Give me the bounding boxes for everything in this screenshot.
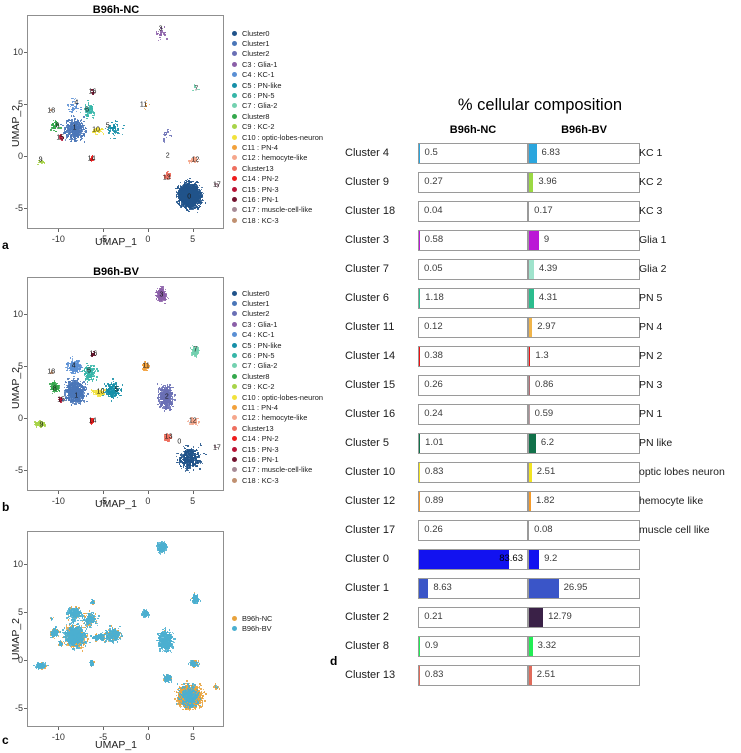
legend-label: C11 : PN-4 xyxy=(242,403,278,412)
cluster-number-label: 16 xyxy=(89,351,97,358)
legend-color-swatch xyxy=(232,135,237,140)
legend-label: C12 : hemocyte-like xyxy=(242,413,307,422)
cluster-number-label: 9 xyxy=(39,422,43,429)
row-annotation-label: PN 1 xyxy=(639,408,662,420)
cluster-number-label: 4 xyxy=(74,99,78,106)
table-row: Cluster 61.184.31PN 5 xyxy=(345,288,741,311)
legend-label: C18 : KC-3 xyxy=(242,216,279,225)
legend-color-swatch xyxy=(232,405,237,410)
panel-a-legend: Cluster0Cluster1Cluster2C3 : Glia-1C4 : … xyxy=(232,28,323,225)
legend-label: C17 : muscle-cell-like xyxy=(242,205,312,214)
row-cluster-label: Cluster 14 xyxy=(345,350,413,362)
row-annotation-label: Glia 1 xyxy=(639,234,666,246)
row-annotation-label: PN 3 xyxy=(639,379,662,391)
cell-bv: 0.59 xyxy=(528,404,640,425)
legend-color-swatch xyxy=(232,124,237,129)
x-tick-mark xyxy=(58,491,59,494)
x-tick-mark xyxy=(148,727,149,730)
bar-fill xyxy=(529,666,532,685)
cluster-number-label: 3 xyxy=(159,25,163,32)
bar-fill xyxy=(529,289,534,308)
legend-label: C11 : PN-4 xyxy=(242,143,278,152)
cluster-number-label: 1 xyxy=(74,392,78,399)
y-tick-label: 10 xyxy=(1,309,23,319)
cell-bv: 26.95 xyxy=(528,578,640,599)
panel-a-xlabel: UMAP_1 xyxy=(0,236,232,248)
x-tick-label: -10 xyxy=(52,732,65,742)
cluster-number-label: 12 xyxy=(192,157,200,164)
legend-color-swatch xyxy=(232,197,237,202)
panel-letter-b: b xyxy=(2,500,9,514)
legend-color-swatch xyxy=(232,176,237,181)
bar-value-label: 8.63 xyxy=(433,582,452,593)
row-cluster-label: Cluster 10 xyxy=(345,466,413,478)
panel-letter-c: c xyxy=(2,733,9,747)
cell-nc: 1.18 xyxy=(418,288,528,309)
legend-color-swatch xyxy=(232,467,237,472)
panel-a-umap-nc: B96h-NC UMAP_2 UMAP_1 371646111881105159… xyxy=(0,0,232,250)
cluster-number-label: 17 xyxy=(213,445,221,452)
bar-value-label: 1.3 xyxy=(535,350,548,361)
legend-item: Cluster13 xyxy=(232,163,323,173)
legend-item: C12 : hemocyte-like xyxy=(232,153,323,163)
cell-bv: 12.79 xyxy=(528,607,640,628)
legend-color-swatch xyxy=(232,395,237,400)
bar-value-label: 0.04 xyxy=(424,205,443,216)
cell-bv: 2.51 xyxy=(528,462,640,483)
cell-bv: 9 xyxy=(528,230,640,251)
table-row: Cluster 40.56.83KC 1 xyxy=(345,143,741,166)
x-tick-mark xyxy=(103,491,104,494)
y-tick-label: -5 xyxy=(1,203,23,213)
cell-nc: 0.26 xyxy=(418,520,528,541)
bar-value-label: 0.83 xyxy=(425,466,444,477)
bar-value-label: 3.96 xyxy=(538,176,557,187)
y-tick-label: 5 xyxy=(1,607,23,617)
legend-label: C15 : PN-3 xyxy=(242,445,279,454)
panel-b-umap-bv: B96h-BV UMAP_2 UMAP_1 371646111881105215… xyxy=(0,262,232,512)
row-cluster-label: Cluster 8 xyxy=(345,640,413,652)
bar-value-label: 0.26 xyxy=(424,379,443,390)
legend-color-swatch xyxy=(232,291,237,296)
bar-value-label: 0.9 xyxy=(425,640,438,651)
legend-color-swatch xyxy=(232,145,237,150)
row-cluster-label: Cluster 5 xyxy=(345,437,413,449)
legend-item: C7 : Glia-2 xyxy=(232,361,323,371)
x-tick-mark xyxy=(103,727,104,730)
legend-label: Cluster0 xyxy=(242,29,270,38)
row-cluster-label: Cluster 0 xyxy=(345,553,413,565)
cluster-number-label: 9 xyxy=(39,157,43,164)
cell-bv: 6.83 xyxy=(528,143,640,164)
panel-letter-d: d xyxy=(330,654,337,668)
panel-c-umap-merged: UMAP_2 UMAP_1 -10-5051050-5 xyxy=(0,523,232,753)
cell-nc: 0.05 xyxy=(418,259,528,280)
y-tick-label: 5 xyxy=(1,361,23,371)
bar-fill xyxy=(529,463,532,482)
legend-label: C7 : Glia-2 xyxy=(242,361,277,370)
cell-nc: 0.27 xyxy=(418,172,528,193)
legend-color-swatch xyxy=(232,374,237,379)
table-row: Cluster 140.381.3PN 2 xyxy=(345,346,741,369)
legend-label: C5 : PN-like xyxy=(242,81,281,90)
legend-color-swatch xyxy=(232,363,237,368)
panel-letter-a: a xyxy=(2,238,9,252)
bar-fill xyxy=(529,173,533,192)
x-tick-label: 0 xyxy=(145,732,150,742)
legend-item: C5 : PN-like xyxy=(232,340,323,350)
row-annotation-label: muscle cell like xyxy=(639,524,710,536)
legend-item: C16 : PN-1 xyxy=(232,194,323,204)
bar-value-label: 0.21 xyxy=(424,611,443,622)
bar-value-label: 0.83 xyxy=(425,669,444,680)
legend-label: Cluster2 xyxy=(242,49,270,58)
bar-fill xyxy=(419,434,420,453)
y-tick-mark xyxy=(24,470,27,471)
bar-fill xyxy=(419,666,420,685)
cluster-number-label: 15 xyxy=(56,135,64,142)
y-tick-label: 0 xyxy=(1,655,23,665)
cluster-number-label: 18 xyxy=(47,107,55,114)
bar-value-label: 2.97 xyxy=(537,321,556,332)
legend-color-swatch xyxy=(232,93,237,98)
cell-bv: 6.2 xyxy=(528,433,640,454)
legend-label: C15 : PN-3 xyxy=(242,185,279,194)
cell-nc: 0.9 xyxy=(418,636,528,657)
bar-value-label: 0.89 xyxy=(425,495,444,506)
bar-fill xyxy=(419,579,428,598)
row-cluster-label: Cluster 1 xyxy=(345,582,413,594)
legend-color-swatch xyxy=(232,207,237,212)
legend-label: C5 : PN-like xyxy=(242,341,281,350)
table-row: Cluster 083.639.2 xyxy=(345,549,741,572)
legend-item: C7 : Glia-2 xyxy=(232,101,323,111)
cell-nc: 0.21 xyxy=(418,607,528,628)
legend-color-swatch xyxy=(232,426,237,431)
x-tick-label: 0 xyxy=(145,496,150,506)
legend-item: Cluster1 xyxy=(232,298,323,308)
legend-item: C18 : KC-3 xyxy=(232,215,323,225)
cell-nc: 0.24 xyxy=(418,404,528,425)
legend-color-swatch xyxy=(232,301,237,306)
legend-color-swatch xyxy=(232,31,237,36)
row-cluster-label: Cluster 16 xyxy=(345,408,413,420)
table-row: Cluster 160.240.59PN 1 xyxy=(345,404,741,427)
y-tick-label: 10 xyxy=(1,559,23,569)
legend-item: Cluster2 xyxy=(232,309,323,319)
row-annotation-label: KC 2 xyxy=(639,176,662,188)
cluster-number-label: 13 xyxy=(165,433,173,440)
bar-value-label: 0.12 xyxy=(424,321,443,332)
legend-item: C16 : PN-1 xyxy=(232,454,323,464)
legend-label: B96h-BV xyxy=(242,624,272,633)
x-tick-mark xyxy=(58,727,59,730)
legend-item: C3 : Glia-1 xyxy=(232,319,323,329)
cluster-number-label: 7 xyxy=(193,347,197,354)
legend-item: B96h-NC xyxy=(232,613,272,623)
table-row: Cluster 100.832.51optic lobes neuron xyxy=(345,462,741,485)
x-tick-label: -10 xyxy=(52,496,65,506)
cell-bv: 3.96 xyxy=(528,172,640,193)
legend-item: Cluster2 xyxy=(232,49,323,59)
x-tick-label: 5 xyxy=(190,732,195,742)
table-row: Cluster 180.040.17KC 3 xyxy=(345,201,741,224)
legend-color-swatch xyxy=(232,353,237,358)
y-tick-label: 5 xyxy=(1,99,23,109)
bar-value-label: 12.79 xyxy=(548,611,572,622)
x-tick-label: 0 xyxy=(145,234,150,244)
bar-fill xyxy=(419,289,420,308)
cluster-number-label: 2 xyxy=(166,152,170,159)
cell-nc: 0.58 xyxy=(418,230,528,251)
legend-label: C14 : PN-2 xyxy=(242,434,279,443)
bar-value-label: 4.31 xyxy=(539,292,558,303)
legend-item: C9 : KC-2 xyxy=(232,122,323,132)
row-cluster-label: Cluster 4 xyxy=(345,147,413,159)
legend-item: C4 : KC-1 xyxy=(232,330,323,340)
legend-item: C14 : PN-2 xyxy=(232,173,323,183)
bar-fill xyxy=(529,608,543,627)
bar-fill xyxy=(529,260,534,279)
bar-value-label: 26.95 xyxy=(564,582,588,593)
bar-fill xyxy=(419,231,420,250)
legend-item: C14 : PN-2 xyxy=(232,433,323,443)
legend-item: C11 : PN-4 xyxy=(232,142,323,152)
legend-label: C12 : hemocyte-like xyxy=(242,153,307,162)
cluster-number-label: 18 xyxy=(47,368,55,375)
bar-value-label: 0.59 xyxy=(535,408,554,419)
bar-value-label: 9 xyxy=(544,234,549,245)
legend-item: C15 : PN-3 xyxy=(232,184,323,194)
legend-item: Cluster8 xyxy=(232,371,323,381)
legend-label: C10 : optic-lobes-neuron xyxy=(242,133,323,142)
table-row: Cluster 80.93.32 xyxy=(345,636,741,659)
y-tick-mark xyxy=(24,104,27,105)
legend-color-swatch xyxy=(232,322,237,327)
row-cluster-label: Cluster 12 xyxy=(345,495,413,507)
bar-value-label: 0.27 xyxy=(424,176,443,187)
cell-bv: 0.08 xyxy=(528,520,640,541)
legend-label: C16 : PN-1 xyxy=(242,195,279,204)
panel-b-legend: Cluster0Cluster1Cluster2C3 : Glia-1C4 : … xyxy=(232,288,323,485)
legend-item: C10 : optic-lobes-neuron xyxy=(232,132,323,142)
cluster-number-label: 3 xyxy=(159,291,163,298)
cluster-number-label: 6 xyxy=(85,106,89,113)
row-annotation-label: hemocyte like xyxy=(639,495,703,507)
cluster-number-label: 5 xyxy=(115,386,119,393)
panel-c-xlabel: UMAP_1 xyxy=(0,739,232,751)
x-tick-label: 5 xyxy=(190,496,195,506)
y-tick-mark xyxy=(24,660,27,661)
row-annotation-label: Glia 2 xyxy=(639,263,666,275)
legend-item: Cluster8 xyxy=(232,111,323,121)
legend-label: C3 : Glia-1 xyxy=(242,60,277,69)
bar-value-label: 0.86 xyxy=(535,379,554,390)
legend-label: C10 : optic-lobes-neuron xyxy=(242,393,323,402)
bar-fill xyxy=(529,347,530,366)
legend-item: C10 : optic-lobes-neuron xyxy=(232,392,323,402)
cluster-number-label: 8 xyxy=(53,385,57,392)
y-tick-label: 0 xyxy=(1,413,23,423)
row-annotation-label: PN 4 xyxy=(639,321,662,333)
row-cluster-label: Cluster 7 xyxy=(345,263,413,275)
legend-color-swatch xyxy=(232,72,237,77)
legend-label: Cluster0 xyxy=(242,289,270,298)
legend-color-swatch xyxy=(232,218,237,223)
bar-fill xyxy=(419,492,420,511)
legend-color-swatch xyxy=(232,41,237,46)
legend-item: C18 : KC-3 xyxy=(232,475,323,485)
x-tick-label: 5 xyxy=(190,234,195,244)
row-cluster-label: Cluster 17 xyxy=(345,524,413,536)
cluster-number-label: 7 xyxy=(194,86,198,93)
bar-fill xyxy=(529,318,532,337)
legend-color-swatch xyxy=(232,478,237,483)
legend-label: C18 : KC-3 xyxy=(242,476,279,485)
legend-item: C3 : Glia-1 xyxy=(232,59,323,69)
legend-label: Cluster13 xyxy=(242,424,274,433)
legend-color-swatch xyxy=(232,166,237,171)
y-tick-mark xyxy=(24,708,27,709)
legend-color-swatch xyxy=(232,626,237,631)
cell-bv: 9.2 xyxy=(528,549,640,570)
cell-bv: 1.3 xyxy=(528,346,640,367)
cell-nc: 0.26 xyxy=(418,375,528,396)
legend-color-swatch xyxy=(232,447,237,452)
cluster-number-label: 6 xyxy=(87,367,91,374)
y-tick-mark xyxy=(24,156,27,157)
bar-value-label: 0.58 xyxy=(425,234,444,245)
legend-color-swatch xyxy=(232,332,237,337)
legend-label: C7 : Glia-2 xyxy=(242,101,277,110)
cluster-number-label: 12 xyxy=(189,418,197,425)
legend-label: Cluster2 xyxy=(242,309,270,318)
cell-nc: 0.38 xyxy=(418,346,528,367)
legend-item: C6 : PN-5 xyxy=(232,350,323,360)
cell-bv: 0.86 xyxy=(528,375,640,396)
row-cluster-label: Cluster 18 xyxy=(345,205,413,217)
table-row: Cluster 90.273.96KC 2 xyxy=(345,172,741,195)
cluster-number-label: 2 xyxy=(165,394,169,401)
bar-fill xyxy=(419,144,420,163)
cell-bv: 0.17 xyxy=(528,201,640,222)
y-tick-label: -5 xyxy=(1,465,23,475)
cell-nc: 0.83 xyxy=(418,665,528,686)
row-cluster-label: Cluster 2 xyxy=(345,611,413,623)
legend-label: B96h-NC xyxy=(242,614,272,623)
table-row: Cluster 150.260.86PN 3 xyxy=(345,375,741,398)
bar-value-label: 0.38 xyxy=(424,350,443,361)
bar-fill xyxy=(529,492,531,511)
legend-label: C4 : KC-1 xyxy=(242,70,274,79)
y-tick-mark xyxy=(24,418,27,419)
panel-c-legend: B96h-NCB96h-BV xyxy=(232,613,272,634)
legend-item: B96h-BV xyxy=(232,623,272,633)
bar-value-label: 0.05 xyxy=(424,263,443,274)
bar-fill xyxy=(419,637,420,656)
bar-value-label: 6.83 xyxy=(542,147,561,158)
legend-label: C14 : PN-2 xyxy=(242,174,279,183)
y-tick-mark xyxy=(24,52,27,53)
bar-fill xyxy=(419,550,509,569)
y-tick-mark xyxy=(24,612,27,613)
bar-value-label: 0.26 xyxy=(424,524,443,535)
bar-value-label: 4.39 xyxy=(539,263,558,274)
bar-value-label: 83.63 xyxy=(499,553,523,564)
legend-color-swatch xyxy=(232,155,237,160)
x-tick-mark xyxy=(148,229,149,232)
row-annotation-label: PN 2 xyxy=(639,350,662,362)
y-tick-mark xyxy=(24,208,27,209)
row-annotation-label: PN like xyxy=(639,437,672,449)
legend-color-swatch xyxy=(232,114,237,119)
legend-label: Cluster1 xyxy=(242,299,270,308)
bar-value-label: 2.51 xyxy=(537,466,556,477)
cell-bv: 4.31 xyxy=(528,288,640,309)
x-tick-mark xyxy=(103,229,104,232)
row-annotation-label: KC 1 xyxy=(639,147,662,159)
legend-item: C12 : hemocyte-like xyxy=(232,413,323,423)
cluster-number-label: 17 xyxy=(213,182,221,189)
bar-fill xyxy=(529,376,530,395)
cluster-number-label: 1 xyxy=(73,124,77,131)
bar-fill xyxy=(529,579,559,598)
bar-value-label: 1.18 xyxy=(425,292,444,303)
legend-label: Cluster8 xyxy=(242,372,270,381)
bar-value-label: 6.2 xyxy=(541,437,554,448)
bar-value-label: 0.24 xyxy=(424,408,443,419)
cluster-number-label: 13 xyxy=(163,174,171,181)
row-cluster-label: Cluster 15 xyxy=(345,379,413,391)
cluster-number-label: 4 xyxy=(72,362,76,369)
y-tick-label: -5 xyxy=(1,703,23,713)
legend-item: Cluster0 xyxy=(232,28,323,38)
table-row: Cluster 20.2112.79 xyxy=(345,607,741,630)
legend-color-swatch xyxy=(232,457,237,462)
legend-label: C3 : Glia-1 xyxy=(242,320,277,329)
legend-label: Cluster13 xyxy=(242,164,274,173)
cell-nc: 83.63 xyxy=(418,549,528,570)
cell-nc: 0.04 xyxy=(418,201,528,222)
legend-color-swatch xyxy=(232,62,237,67)
legend-item: Cluster1 xyxy=(232,38,323,48)
bar-fill xyxy=(529,405,530,424)
row-cluster-label: Cluster 13 xyxy=(345,669,413,681)
panel-c-plot-area xyxy=(27,531,224,727)
legend-color-swatch xyxy=(232,83,237,88)
bar-value-label: 2.51 xyxy=(537,669,556,680)
cluster-number-label: 11 xyxy=(143,362,150,369)
y-tick-mark xyxy=(24,366,27,367)
bar-fill xyxy=(529,637,533,656)
cluster-number-label: 10 xyxy=(92,126,100,133)
bar-value-label: 0.17 xyxy=(534,205,553,216)
bar-value-label: 0.5 xyxy=(425,147,438,158)
cell-nc: 0.89 xyxy=(418,491,528,512)
panel-b-xlabel: UMAP_1 xyxy=(0,498,232,510)
legend-color-swatch xyxy=(232,384,237,389)
x-tick-mark xyxy=(193,491,194,494)
cluster-number-label: 15 xyxy=(57,397,65,404)
table-row: Cluster 70.054.39Glia 2 xyxy=(345,259,741,282)
x-tick-label: -5 xyxy=(99,732,107,742)
y-tick-label: 0 xyxy=(1,151,23,161)
cluster-number-label: 14 xyxy=(88,156,96,163)
legend-label: C16 : PN-1 xyxy=(242,455,279,464)
table-row: Cluster 30.589Glia 1 xyxy=(345,230,741,253)
y-tick-mark xyxy=(24,564,27,565)
table-row: Cluster 18.6326.95 xyxy=(345,578,741,601)
